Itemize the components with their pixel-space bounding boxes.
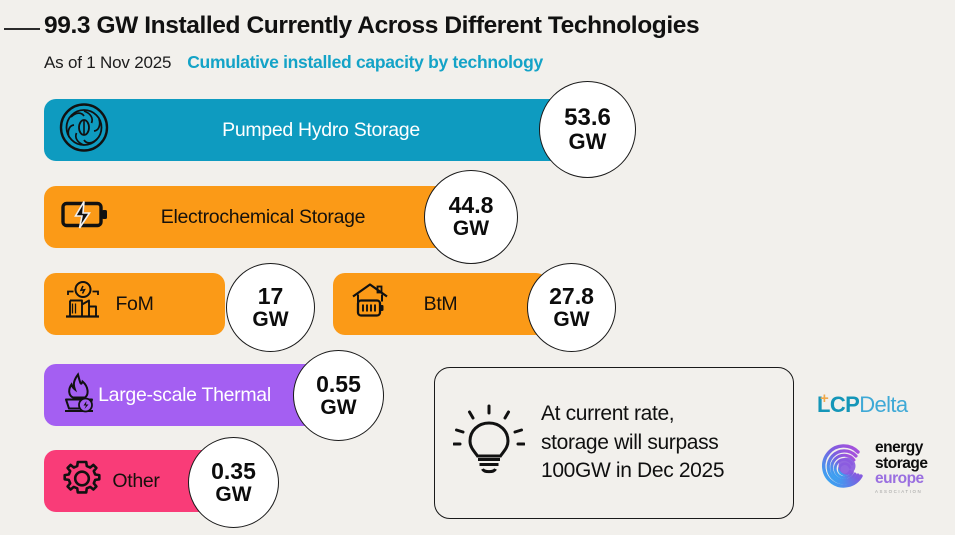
ese-wordmark: energy storage europe ASSOCIATION <box>875 440 928 494</box>
lightbulb-icon <box>453 401 525 486</box>
ese-line-3: europe <box>875 471 928 487</box>
bubble-other: 0.35 GW <box>188 437 279 528</box>
bubble-unit-large-scale-thermal: GW <box>320 397 356 419</box>
callout-line-2: storage will surpass <box>541 431 718 454</box>
bar-electrochemical-storage[interactable]: Electrochemical Storage <box>44 186 482 248</box>
bubble-electrochemical-storage: 44.8 GW <box>424 170 518 264</box>
callout-line-3: 100GW in Dec 2025 <box>541 459 724 482</box>
bar-label-pumped-hydro-storage: Pumped Hydro Storage <box>44 119 598 142</box>
home-battery-icon <box>347 280 393 329</box>
battery-bolt-icon <box>58 196 110 239</box>
page-title: 99.3 GW Installed Currently Across Diffe… <box>44 12 699 40</box>
bar-btm[interactable]: BtM <box>333 273 548 335</box>
bubble-unit-other: GW <box>215 484 251 506</box>
title-rule <box>4 28 40 30</box>
callout-line-1: At current rate, <box>541 402 674 425</box>
bubble-unit-pumped-hydro-storage: GW <box>569 131 607 154</box>
callout-text: At current rate, storage will surpass 10… <box>541 400 724 486</box>
bubble-value-btm: 27.8 <box>549 285 594 309</box>
ese-line-4: ASSOCIATION <box>875 489 928 494</box>
gear-icon <box>60 457 104 506</box>
subtitle-row: As of 1 Nov 2025 Cumulative installed ca… <box>44 52 543 73</box>
bubble-pumped-hydro-storage: 53.6 GW <box>539 81 636 178</box>
subtitle: Cumulative installed capacity by technol… <box>187 52 543 73</box>
bubble-unit-btm: GW <box>553 309 589 331</box>
bubble-large-scale-thermal: 0.55 GW <box>293 350 384 441</box>
bubble-value-large-scale-thermal: 0.55 <box>316 373 361 397</box>
turbine-icon <box>58 102 110 159</box>
infographic-canvas: 99.3 GW Installed Currently Across Diffe… <box>0 0 955 535</box>
bubble-btm: 27.8 GW <box>527 263 616 352</box>
bubble-fom: 17 GW <box>226 263 315 352</box>
ese-line-2: storage <box>875 456 928 472</box>
bubble-value-other: 0.35 <box>211 460 256 484</box>
bubble-value-fom: 17 <box>258 285 284 309</box>
power-plant-icon <box>58 279 104 330</box>
callout-box: At current rate, storage will surpass 10… <box>434 367 794 519</box>
bubble-unit-electrochemical-storage: GW <box>453 218 489 240</box>
ese-line-1: energy <box>875 440 928 456</box>
lcp-plus-icon: + <box>820 390 829 407</box>
ese-swirl-icon <box>817 440 873 501</box>
bubble-value-pumped-hydro-storage: 53.6 <box>564 106 611 131</box>
as-of-date: As of 1 Nov 2025 <box>44 53 171 73</box>
bar-fom[interactable]: FoM <box>44 273 225 335</box>
energy-storage-europe-logo: energy storage europe ASSOCIATION <box>817 438 949 504</box>
lcp-wordmark: LCPDelta <box>817 392 908 417</box>
lcp-light: Delta <box>859 392 907 417</box>
bubble-value-electrochemical-storage: 44.8 <box>449 194 494 218</box>
thermal-flame-icon <box>58 371 100 420</box>
bar-large-scale-thermal[interactable]: Large-scale Thermal <box>44 364 325 426</box>
lcp-delta-logo: + LCPDelta <box>817 392 945 426</box>
bar-pumped-hydro-storage[interactable]: Pumped Hydro Storage <box>44 99 598 161</box>
bubble-unit-fom: GW <box>252 309 288 331</box>
